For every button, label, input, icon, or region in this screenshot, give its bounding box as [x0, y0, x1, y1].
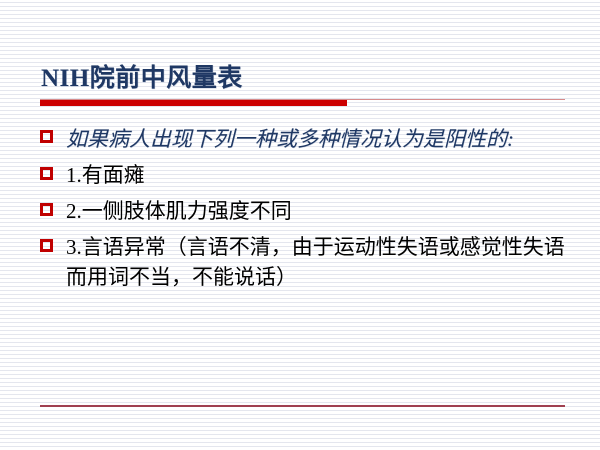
- list-item-label: 3.言语异常（言语不清，由于运动性失语或感觉性失语而用词不当，不能说话）: [66, 232, 570, 292]
- title-divider: [40, 99, 565, 106]
- slide-canvas: NIH院前中风量表 如果病人出现下列一种或多种情况认为是阳性的: 1.有面瘫 2…: [0, 0, 600, 450]
- list-item-label: 2.一侧肢体肌力强度不同: [66, 196, 570, 226]
- page-title: NIH院前中风量表: [41, 58, 243, 94]
- square-bullet-icon: [40, 130, 53, 143]
- list-item: 3.言语异常（言语不清，由于运动性失语或感觉性失语而用词不当，不能说话）: [40, 232, 570, 292]
- footer-divider: [40, 405, 565, 407]
- list-item: 2.一侧肢体肌力强度不同: [40, 196, 570, 226]
- list-item-label: 1.有面瘫: [66, 160, 570, 190]
- square-bullet-icon: [40, 203, 53, 216]
- square-bullet-icon: [40, 167, 53, 180]
- list-item: 如果病人出现下列一种或多种情况认为是阳性的:: [40, 124, 570, 154]
- bullet-list: 如果病人出现下列一种或多种情况认为是阳性的: 1.有面瘫 2.一侧肢体肌力强度不…: [40, 124, 570, 298]
- list-item: 1.有面瘫: [40, 160, 570, 190]
- square-bullet-icon: [40, 239, 53, 252]
- title-divider-thick-bar: [40, 100, 347, 106]
- list-item-label: 如果病人出现下列一种或多种情况认为是阳性的:: [66, 124, 570, 154]
